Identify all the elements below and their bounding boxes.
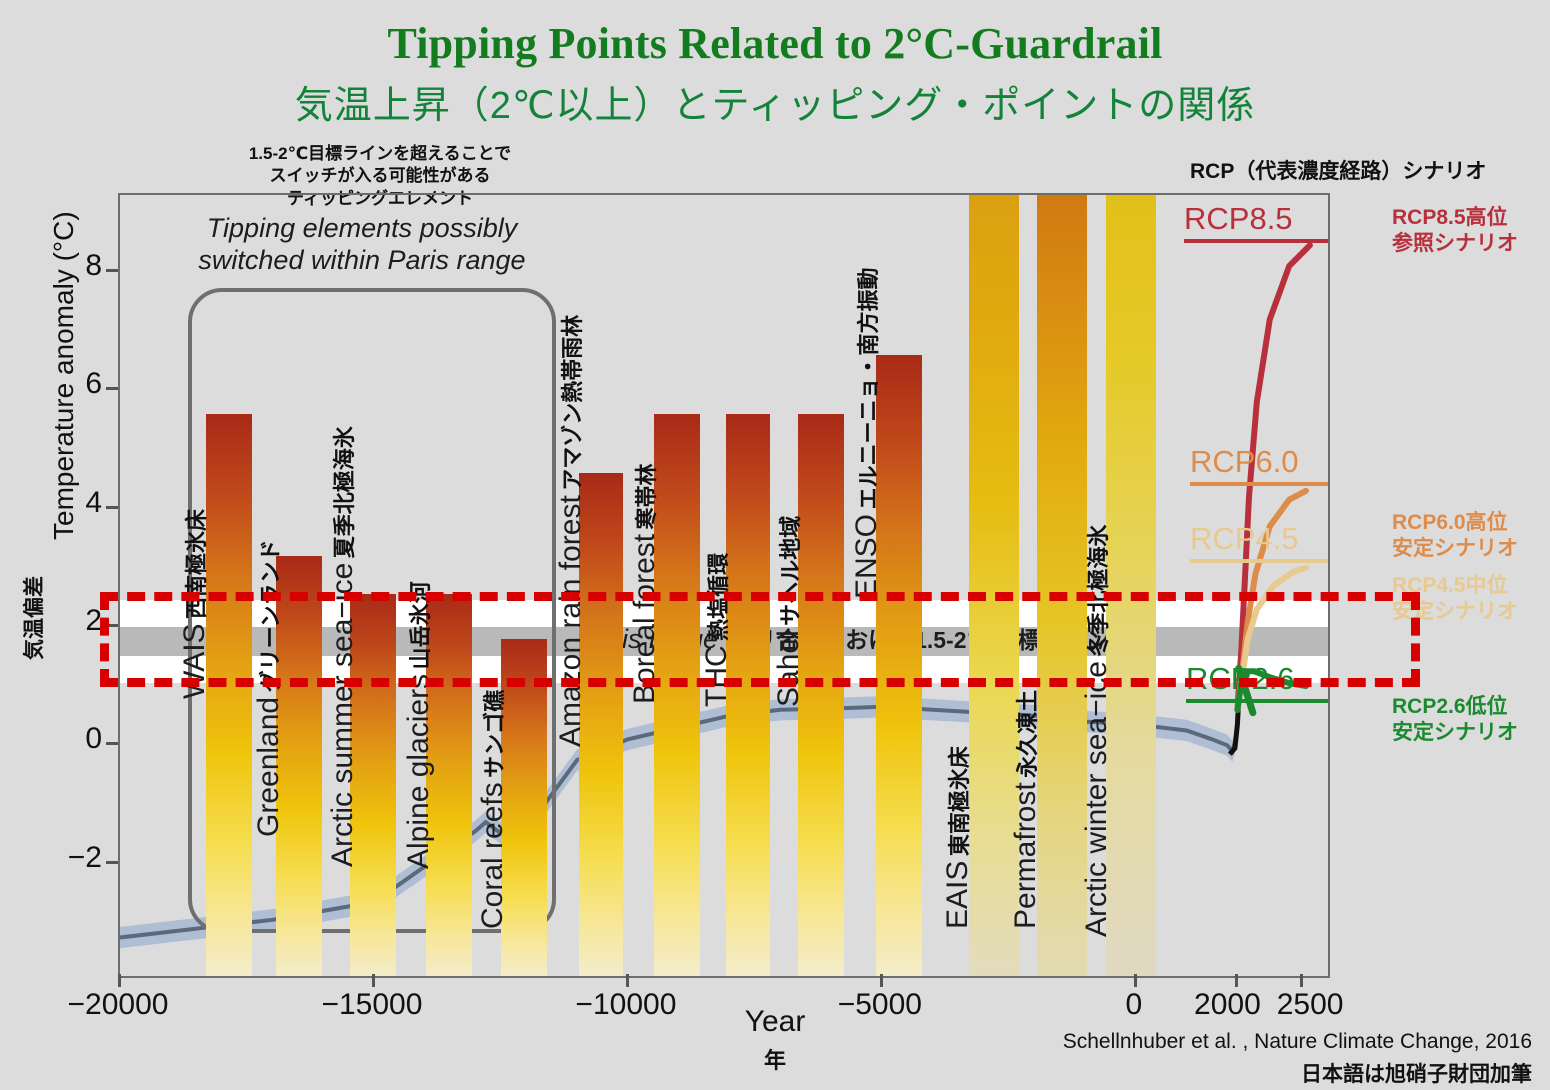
tipping-bar-label-ja: 寒帯林 <box>634 463 659 529</box>
tipping-bar-label-ja: 冬季北極海氷 <box>1086 525 1111 657</box>
rcp-header-label: RCP（代表濃度経路）シナリオ <box>1190 155 1486 185</box>
tipping-note-line1: 1.5-2℃目標ラインを超えることで <box>170 143 590 165</box>
x-tick <box>118 974 121 987</box>
y-tick-label: 8 <box>40 249 102 283</box>
tipping-bar-label: Permafrost 永久凍土 <box>1009 690 1043 929</box>
tipping-bar-label-en: Permafrost <box>1009 782 1042 929</box>
x-tick <box>1300 974 1303 987</box>
tipping-bar-label-ja: 山岳氷河 <box>408 581 433 669</box>
tipping-bar-label: EAIS 東南極氷床 <box>941 746 975 929</box>
y-tick-label: 4 <box>40 486 102 520</box>
rcp-legend-line1: RCP6.0高位 <box>1392 510 1518 536</box>
y-tick <box>106 269 118 272</box>
tipping-bar-label-en: Boreal forest <box>628 534 661 704</box>
paris-group-caption-line2: switched within Paris range <box>152 245 572 277</box>
rcp-legend-line2: 安定シナリオ <box>1392 536 1518 562</box>
rcp-underline-rcp6.0 <box>1190 482 1328 486</box>
chart-plot-area: Paris rangeパリ合意における1.5-2℃目標ライン Tipping e… <box>118 193 1330 978</box>
x-tick <box>626 974 629 987</box>
tipping-bar-label: Arctic summer sea−ice 夏季北極海氷 <box>326 426 360 867</box>
tipping-bar-label-en: Sahel <box>772 630 805 707</box>
page-title-ja: 気温上昇（2℃以上）とティッピング・ポイントの関係 <box>0 74 1550 129</box>
tipping-bar-wais <box>206 414 252 976</box>
y-tick-label: 0 <box>40 722 102 756</box>
rcp-legend-line1: RCP4.5中位 <box>1392 573 1518 599</box>
rcp-legend-rcp2.6: RCP2.6低位安定シナリオ <box>1392 694 1518 745</box>
tipping-bar-label-ja: 熱塩循環 <box>706 553 731 641</box>
tipping-bar-label-ja: グリーンランド <box>258 540 283 693</box>
x-tick <box>1235 974 1238 987</box>
rcp-inline-label-rcp6.0: RCP6.0 <box>1190 444 1299 480</box>
tipping-bar-label-en: Alpine glaciers <box>402 674 435 869</box>
tipping-bar-label: Greenland グリーンランド <box>252 540 286 837</box>
rcp-legend-rcp8.5: RCP8.5高位参照シナリオ <box>1392 205 1518 256</box>
rcp-inline-label-rcp4.5: RCP4.5 <box>1190 521 1299 557</box>
paris-group-caption-line1: Tipping elements possibly <box>152 213 572 245</box>
y-tick <box>106 742 118 745</box>
y-tick <box>106 861 118 864</box>
tipping-note-line2: スイッチが入る可能性がある <box>170 165 590 187</box>
tipping-bar-label: Arctic winter sea−ice 冬季北極海氷 <box>1080 525 1114 937</box>
rcp-legend-rcp4.5: RCP4.5中位安定シナリオ <box>1392 573 1518 624</box>
tipping-bar-label-en: WAIS <box>178 623 211 699</box>
rcp-legend-rcp6.0: RCP6.0高位安定シナリオ <box>1392 510 1518 561</box>
tipping-bar-label-en: EAIS <box>941 861 974 929</box>
tipping-bar-label: Coral reefs サンゴ礁 <box>476 690 510 929</box>
y-tick <box>106 506 118 509</box>
tipping-bar-label: ENSO エルニーニョ・南方振動 <box>850 268 884 600</box>
page-title-en: Tipping Points Related to 2°C-Guardrail <box>0 18 1550 69</box>
rcp-underline-rcp4.5 <box>1190 559 1328 563</box>
source-citation: Schellnhuber et al. , Nature Climate Cha… <box>1063 1030 1532 1054</box>
y-tick-label: 6 <box>40 367 102 401</box>
rcp-legend-line1: RCP2.6低位 <box>1392 694 1518 720</box>
x-tick <box>880 974 883 987</box>
tipping-bar-label: Amazon rain forest アマゾン熱帯雨林 <box>554 315 588 747</box>
chart-canvas: Paris rangeパリ合意における1.5-2℃目標ライン Tipping e… <box>120 195 1328 976</box>
tipping-bar-label-ja: サヘル地域 <box>778 516 803 626</box>
rcp-legend-line2: 安定シナリオ <box>1392 599 1518 625</box>
paris-group-caption: Tipping elements possibly switched withi… <box>152 213 572 277</box>
rcp-legend-line1: RCP8.5高位 <box>1392 205 1518 231</box>
tipping-bar-label-ja: 永久凍土 <box>1015 690 1040 778</box>
rcp-underline-rcp8.5 <box>1184 239 1328 243</box>
y-tick <box>106 387 118 390</box>
translation-credit: 日本語は旭硝子財団加筆 <box>1301 1058 1532 1088</box>
tipping-bar-label-ja: エルニーニョ・南方振動 <box>856 268 881 510</box>
rcp-inline-label-rcp2.6: RCP2.6 <box>1186 661 1295 697</box>
x-tick <box>1134 974 1137 987</box>
tipping-bar-label: Alpine glaciers 山岳氷河 <box>402 581 436 869</box>
tipping-bar-label-ja: アマゾン熱帯雨林 <box>560 315 585 491</box>
tipping-bar-label-en: Arctic winter sea−ice <box>1080 661 1113 937</box>
tipping-bar-label: WAIS 西南極氷床 <box>178 509 212 699</box>
rcp-underline-rcp2.6 <box>1186 699 1328 703</box>
tipping-bar-label-en: ENSO <box>850 514 883 599</box>
tipping-bar-label: THC 熱塩循環 <box>700 553 734 707</box>
bar-gradient-fill <box>206 414 252 976</box>
rcp-inline-label-rcp8.5: RCP8.5 <box>1184 201 1293 237</box>
tipping-bar-label-en: Coral reefs <box>476 782 509 929</box>
tipping-bar-label: Sahel サヘル地域 <box>772 516 806 707</box>
tipping-bar-label-ja: 夏季北極海氷 <box>332 426 357 558</box>
tipping-bar-label-en: Greenland <box>252 697 285 837</box>
tipping-bar-label-ja: 西南極氷床 <box>184 509 209 619</box>
tipping-bar-label-ja: サンゴ礁 <box>482 690 507 778</box>
rcp-legend-line2: 安定シナリオ <box>1392 720 1518 746</box>
tipping-bar-label-en: THC <box>700 645 733 707</box>
y-tick <box>106 624 118 627</box>
y-tick-label: −2 <box>40 841 102 875</box>
rcp-legend-line2: 参照シナリオ <box>1392 231 1518 257</box>
tipping-bar-label: Boreal forest 寒帯林 <box>628 463 662 704</box>
tipping-bar-label-ja: 東南極氷床 <box>947 746 972 856</box>
tipping-bar-label-en: Amazon rain forest <box>554 495 587 747</box>
tipping-bar-label-en: Arctic summer sea−ice <box>326 563 359 867</box>
x-tick <box>372 974 375 987</box>
y-tick-label: 2 <box>40 604 102 638</box>
